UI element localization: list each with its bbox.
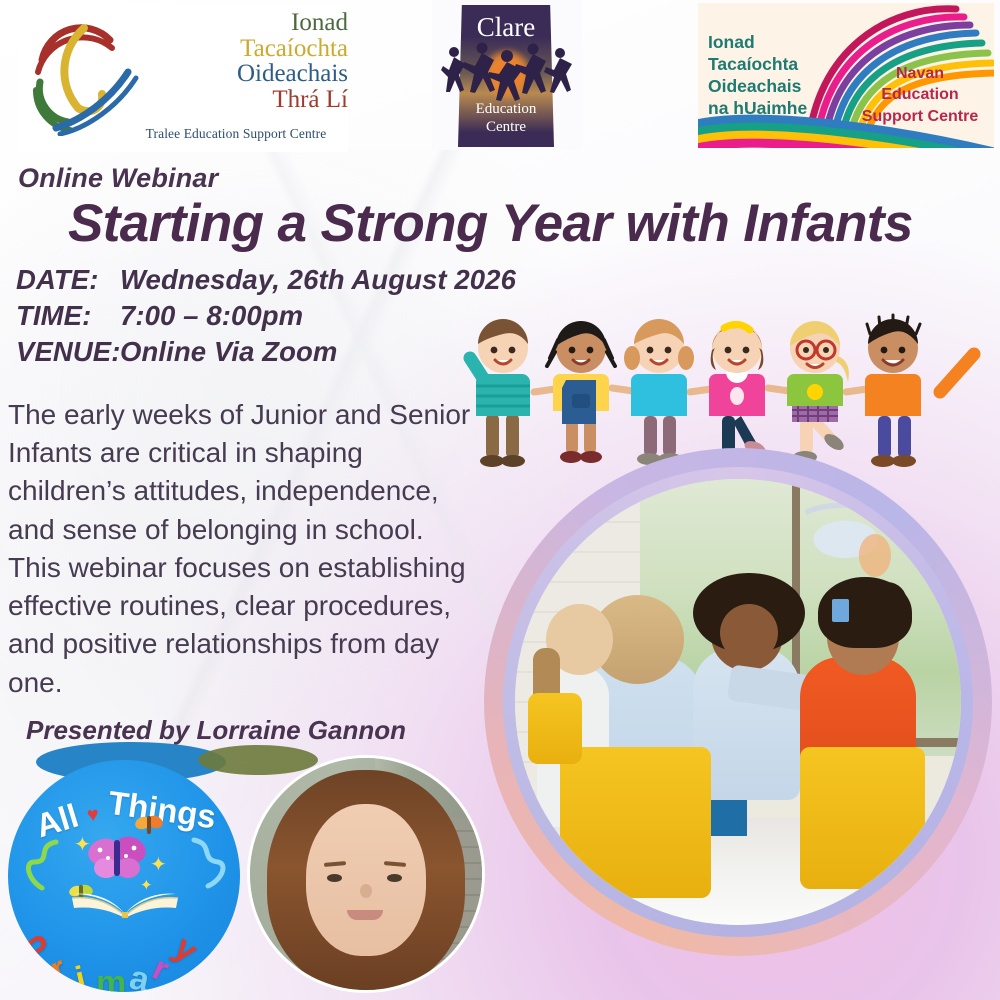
headshot-mouth	[347, 910, 383, 920]
kicker-online-webinar: Online Webinar	[18, 163, 218, 194]
clare-name-label: Clare	[458, 12, 554, 43]
event-details-list: DATE: Wednesday, 26th August 2026 TIME: …	[16, 262, 516, 370]
description-paragraph: The early weeks of Junior and Senior Inf…	[8, 396, 478, 702]
all-things-primary-badge: All ♥ Things ✦ ✦ ✦	[8, 760, 240, 992]
headshot-nose	[360, 884, 372, 898]
clare-sub-label-education: Education	[458, 101, 554, 118]
butterfly-icon-large	[86, 832, 148, 882]
photo-chair-right	[800, 747, 925, 890]
children-holding-hands-illustration	[462, 296, 1000, 468]
navan-english-wordmark: Navan Education Support Centre	[858, 63, 982, 127]
navan-irish-line-2: Tacaíochta	[708, 53, 840, 75]
child-5	[787, 321, 849, 463]
headshot-face	[306, 804, 426, 956]
primary-letter-6: y	[166, 928, 205, 971]
tralee-line-4: Thrá Lí	[136, 87, 348, 113]
photo-child-right-hairclip	[832, 599, 850, 621]
navan-irish-line-3: Oideachais	[708, 75, 840, 97]
tralee-logo-subtitle: Tralee Education Support Centre	[124, 126, 348, 142]
photo-child-center-face	[720, 604, 778, 662]
tralee-logo-wordmark: Ionad Tacaíochta Oideachais Thrá Lí	[136, 10, 348, 112]
clare-sub-label-centre: Centre	[458, 119, 554, 136]
detail-row-time: TIME: 7:00 – 8:00pm	[16, 298, 516, 334]
navan-name-line-2: Education	[858, 84, 982, 105]
tralee-swirl-icon	[24, 16, 144, 136]
logo-tralee-education-support-centre: Ionad Tacaíochta Oideachais Thrá Lí Tral…	[18, 4, 348, 152]
logo-strip: Ionad Tacaíochta Oideachais Thrá Lí Tral…	[0, 0, 1000, 152]
detail-row-venue: VENUE: Online Via Zoom	[16, 334, 516, 370]
logo-clare-education-centre: Clare Education Centre	[432, 0, 582, 150]
child-2	[547, 321, 615, 463]
clare-dancing-figures-icon	[438, 36, 576, 106]
primary-letter-4: a	[126, 958, 153, 992]
photo-chair-far-left	[528, 693, 582, 764]
badge-word-primary: P r i m a r y	[26, 908, 226, 984]
logo-navan-education-support-centre: Ionad Tacaíochta Oideachais na hUaimhe N…	[698, 3, 994, 148]
detail-label-venue: VENUE:	[16, 334, 120, 370]
navan-name-line-3: Support Centre	[858, 106, 982, 127]
headshot-eye-left	[327, 874, 342, 882]
webinar-poster: Ionad Tacaíochta Oideachais Thrá Lí Tral…	[0, 0, 1000, 1000]
sparkle-icon-2: ✦	[150, 852, 167, 877]
navan-irish-line-1: Ionad	[708, 31, 840, 53]
presenter-credit: Presented by Lorraine Gannon	[26, 715, 406, 746]
primary-letter-3: m	[96, 964, 126, 992]
child-6	[865, 315, 974, 467]
navan-name-line-1: Navan	[858, 63, 982, 84]
detail-value-venue: Online Via Zoom	[120, 334, 337, 370]
classroom-photo-frame	[484, 448, 992, 956]
primary-letter-1: r	[44, 949, 72, 990]
detail-label-time: TIME:	[16, 298, 120, 334]
detail-label-date: DATE:	[16, 262, 120, 298]
child-4	[709, 323, 767, 465]
page-title: Starting a Strong Year with Infants	[68, 193, 968, 254]
presenter-photo	[250, 758, 482, 990]
classroom-photo-inner-ring	[503, 467, 973, 937]
navan-irish-line-4: na hUaimhe	[708, 97, 840, 119]
detail-value-date: Wednesday, 26th August 2026	[120, 262, 516, 298]
green-squiggle-icon	[22, 838, 68, 894]
headshot-eye-right	[387, 874, 402, 882]
butterfly-icon-orange	[134, 812, 164, 838]
detail-value-time: 7:00 – 8:00pm	[120, 298, 303, 334]
tralee-line-1: Ionad	[136, 10, 348, 36]
heart-icon: ♥	[86, 803, 100, 827]
tralee-line-2: Tacaíochta	[136, 36, 348, 62]
detail-row-date: DATE: Wednesday, 26th August 2026	[16, 262, 516, 298]
photo-chair-left	[560, 747, 712, 899]
photo-child-right-bun	[867, 582, 907, 622]
navan-irish-wordmark: Ionad Tacaíochta Oideachais na hUaimhe	[708, 31, 840, 119]
classroom-photo	[515, 479, 961, 925]
tralee-line-3: Oideachais	[136, 61, 348, 87]
blue-squiggle-icon	[184, 834, 230, 892]
child-3	[624, 319, 694, 465]
